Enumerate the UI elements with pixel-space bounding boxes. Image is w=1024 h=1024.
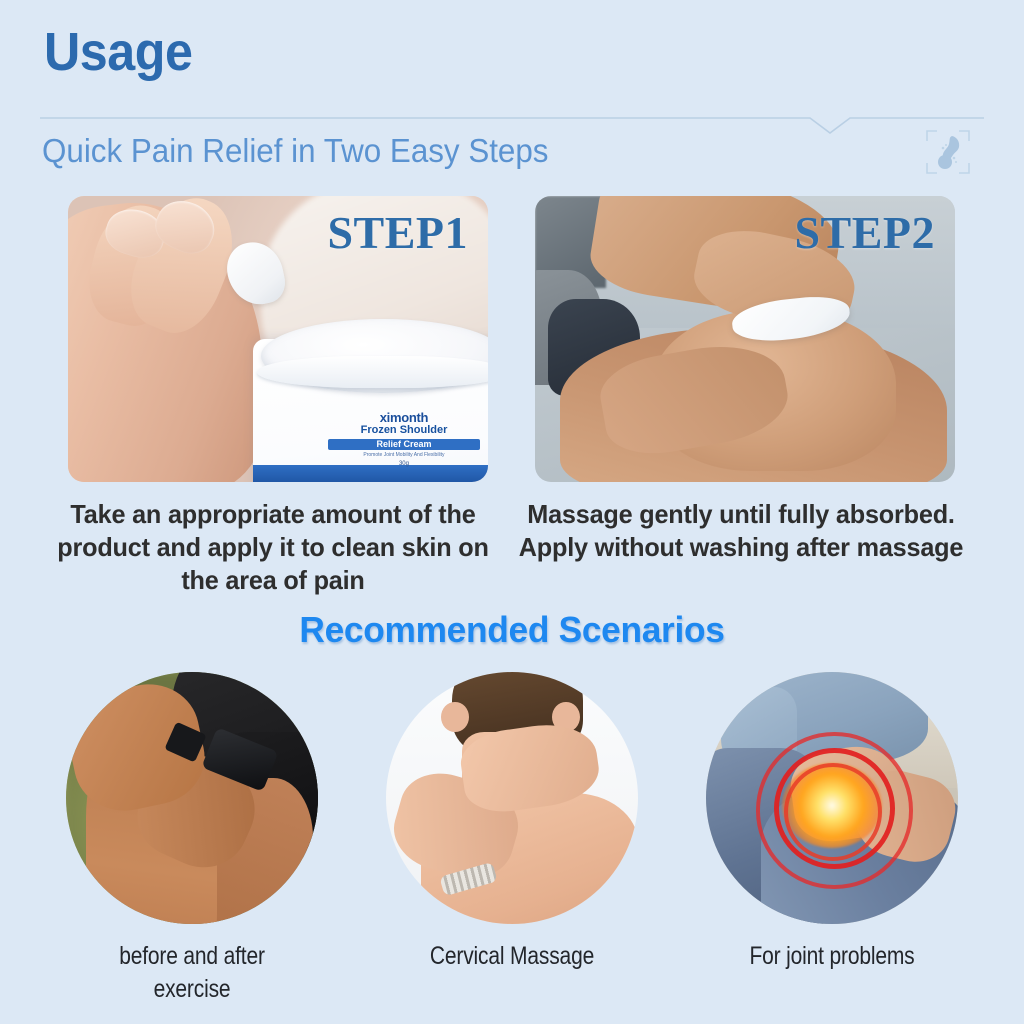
pain-ring-inner-icon <box>784 763 882 861</box>
scenario-caption-exercise: before and after exercise <box>86 940 298 1005</box>
header: Usage Quick Pain Relief in Two Easy Step… <box>0 0 1024 186</box>
step-image-1: ximonth Frozen Shoulder Relief Cream Pro… <box>68 196 488 482</box>
infographic-page: Usage Quick Pain Relief in Two Easy Step… <box>0 0 1024 1024</box>
step-image-2: STEP2 <box>535 196 955 482</box>
cervical-massage-photo <box>386 672 638 924</box>
product-name: Frozen Shoulder <box>328 425 479 437</box>
product-brand: ximonth <box>328 411 479 425</box>
step-caption-1: Take an appropriate amount of the produc… <box>45 498 501 596</box>
page-title: Usage <box>44 25 192 79</box>
step-label-2: STEP2 <box>794 210 935 256</box>
scenario-image-cervical <box>386 672 638 924</box>
scenario-caption-cervical: Cervical Massage <box>406 940 618 973</box>
scenario-item-cervical: Cervical Massage <box>386 672 638 973</box>
page-subtitle: Quick Pain Relief in Two Easy Steps <box>42 130 548 171</box>
product-claim: Promote Joint Mobility And Flexibility <box>328 452 479 458</box>
jar-rim <box>257 356 488 387</box>
scenario-list: before and after exercise Cervical Massa… <box>0 672 1024 1024</box>
step-captions: Take an appropriate amount of the produc… <box>0 498 1024 594</box>
product-subtitle: Relief Cream <box>328 439 479 450</box>
joint-pain-photo <box>706 672 958 924</box>
scenario-image-joint <box>706 672 958 924</box>
scenario-caption-joint: For joint problems <box>726 940 938 973</box>
step-caption-2: Massage gently until fully absorbed. App… <box>513 498 969 564</box>
step-panels: ximonth Frozen Shoulder Relief Cream Pro… <box>0 196 1024 486</box>
scenario-item-exercise: before and after exercise <box>66 672 318 1005</box>
section-heading-recommended-scenarios: Recommended Scenarios <box>10 612 1014 648</box>
joint-anatomy-icon <box>925 129 971 175</box>
scenario-item-joint: For joint problems <box>706 672 958 973</box>
step-label-1: STEP1 <box>327 210 468 256</box>
product-label: ximonth Frozen Shoulder Relief Cream Pro… <box>328 411 479 468</box>
product-net-weight: 30g <box>328 461 479 467</box>
scenario-image-exercise <box>66 672 318 924</box>
athlete-knee-photo <box>66 672 318 924</box>
